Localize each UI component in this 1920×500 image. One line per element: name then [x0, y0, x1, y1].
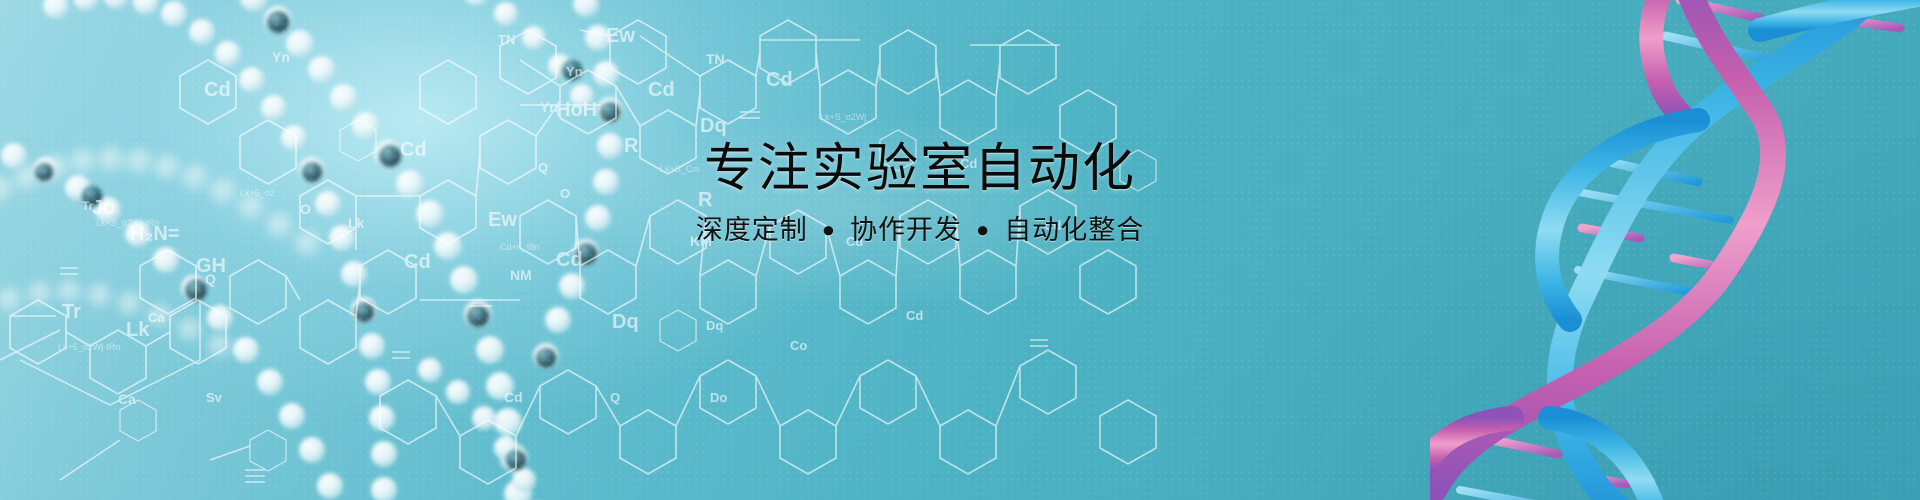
svg-text:Do: Do: [710, 390, 727, 405]
svg-text:Cd: Cd: [404, 251, 431, 273]
svg-text:Dq: Dq: [706, 318, 723, 333]
svg-text:Dq: Dq: [700, 115, 727, 137]
svg-text:Cd+n_t8n: Cd+n_t8n: [500, 242, 539, 252]
subtitle-item-3: 自动化整合: [1004, 217, 1144, 244]
svg-text:Lk+5_o2Wj-tRn: Lk+5_o2Wj-tRn: [58, 342, 120, 352]
svg-text:Q: Q: [610, 390, 620, 405]
svg-text:Tr: Tr: [62, 301, 81, 323]
dna-double-helix-graphic: [1430, 0, 1920, 500]
svg-text:Lk+5_o2: Lk+5_o2: [240, 188, 275, 198]
svg-text:Cd: Cd: [648, 79, 675, 101]
subtitle-item-2: 协作开发: [850, 217, 962, 244]
svg-text:Dq: Dq: [612, 311, 639, 333]
svg-text:O: O: [560, 186, 570, 201]
svg-text:NM: NM: [510, 267, 532, 283]
svg-text:Lk: Lk: [348, 215, 365, 231]
bullet-separator-icon: ●: [822, 219, 836, 241]
svg-text:Q: Q: [205, 271, 216, 287]
banner-subtitle: 深度定制●协作开发●自动化整合: [600, 217, 1240, 244]
svg-text:HoH: HoH: [556, 99, 597, 121]
svg-text:Lk+S_o2Wj-tRn: Lk+S_o2Wj-tRn: [96, 218, 159, 228]
svg-text:Cd: Cd: [504, 389, 523, 405]
svg-text:Ca: Ca: [118, 391, 136, 407]
chemical-hexagon-lattice-graphic: Tr Jo Tr H₂N= GH Lk Ca Q Yn Cd Cd Cd Ew …: [0, 0, 1180, 500]
svg-text:Ca: Ca: [148, 310, 165, 325]
hero-banner: Tr Jo Tr H₂N= GH Lk Ca Q Yn Cd Cd Cd Ew …: [0, 0, 1920, 500]
svg-text:Sv: Sv: [206, 390, 223, 405]
svg-text:Cd: Cd: [766, 69, 793, 91]
svg-text:Lk: Lk: [126, 319, 150, 341]
banner-copy: 专注实验室自动化 深度定制●协作开发●自动化整合: [600, 143, 1240, 244]
svg-text:Ew: Ew: [488, 209, 517, 231]
svg-text:Cd: Cd: [400, 139, 427, 161]
svg-text:Co: Co: [790, 338, 807, 353]
svg-text:Q: Q: [538, 160, 548, 175]
page-title: 专注实验室自动化: [600, 143, 1240, 195]
svg-text:Yn: Yn: [272, 49, 290, 65]
svg-text:Yn: Yn: [566, 64, 583, 79]
svg-text:Tr: Tr: [82, 199, 94, 213]
svg-text:Ew: Ew: [606, 25, 635, 47]
svg-text:Lk+S_o2Wj: Lk+S_o2Wj: [820, 112, 866, 122]
svg-text:Cd: Cd: [204, 79, 231, 101]
subtitle-item-1: 深度定制: [696, 217, 808, 244]
svg-text:O: O: [300, 201, 311, 217]
svg-text:TN: TN: [706, 51, 725, 67]
svg-text:Jo: Jo: [92, 197, 115, 219]
svg-text:TN: TN: [498, 32, 515, 47]
svg-text:Cd: Cd: [556, 249, 583, 271]
bullet-separator-icon-2: ●: [976, 219, 990, 241]
svg-text:Cd: Cd: [906, 308, 923, 323]
